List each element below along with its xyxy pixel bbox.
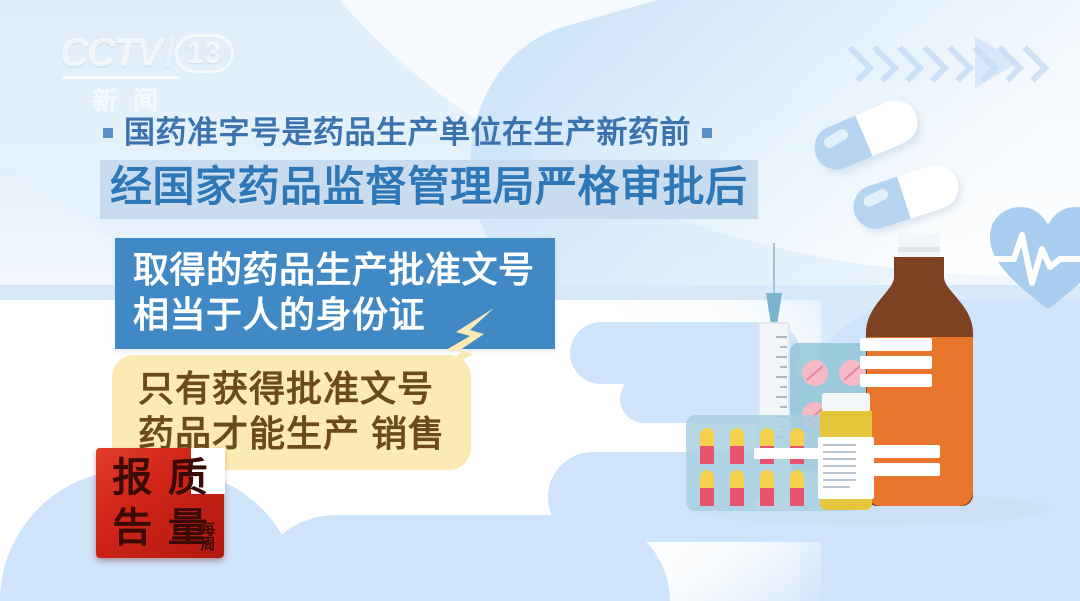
capsule-highlight xyxy=(822,127,850,150)
logo-channel-name: 新闻 xyxy=(60,81,190,117)
logo-slash: / xyxy=(165,33,174,73)
square-bullet-left-icon xyxy=(103,128,113,138)
headline-line-1-text: 国药准字号是药品生产单位在生产新药前 xyxy=(124,117,691,148)
headline-line-1: 国药准字号是药品生产单位在生产新药前 xyxy=(103,117,712,148)
seal-char-bottom-left: 告 xyxy=(106,505,159,552)
seal-side-char-2: 周 xyxy=(200,537,215,552)
seal-char-top-left: 报 xyxy=(106,455,159,502)
headline-line-2-band: 经国家药品监督管理局严格审批后 xyxy=(100,160,758,219)
broadcast-screen: CCTV / 13 新闻 国药准字号是药品生产单位在生产新药前 经国家药品监督管… xyxy=(0,0,1080,601)
logo-cctv-text: CCTV xyxy=(60,33,161,73)
logo-top-row: CCTV / 13 xyxy=(60,33,240,73)
background-cloud-5 xyxy=(250,515,670,601)
cctv13-logo: CCTV / 13 新闻 xyxy=(60,33,240,117)
yellow-callout-line-1: 只有获得批准文号 xyxy=(138,367,445,412)
program-seal-logo: 报 质 告 量 每 周 xyxy=(96,448,224,558)
large-arrow-decoration xyxy=(975,36,1019,88)
headline-line-2-text: 经国家药品监督管理局严格审批后 xyxy=(110,166,748,209)
background-white-blob xyxy=(0,300,90,380)
medicine-illustration xyxy=(660,225,1080,601)
seal-char-top-right: 质 xyxy=(162,455,215,502)
logo-underline xyxy=(62,76,180,79)
seal-side-char-1: 每 xyxy=(200,522,215,537)
yellow-vial-icon xyxy=(818,393,874,510)
capsule-highlight xyxy=(862,187,890,208)
blue-callout-line-1: 取得的药品生产批准文号 xyxy=(133,248,535,293)
logo-channel-number: 13 xyxy=(175,34,233,73)
square-bullet-right-icon xyxy=(702,128,712,138)
medicine-bottle-icon xyxy=(860,233,973,506)
seal-side-text: 每 周 xyxy=(194,522,222,552)
